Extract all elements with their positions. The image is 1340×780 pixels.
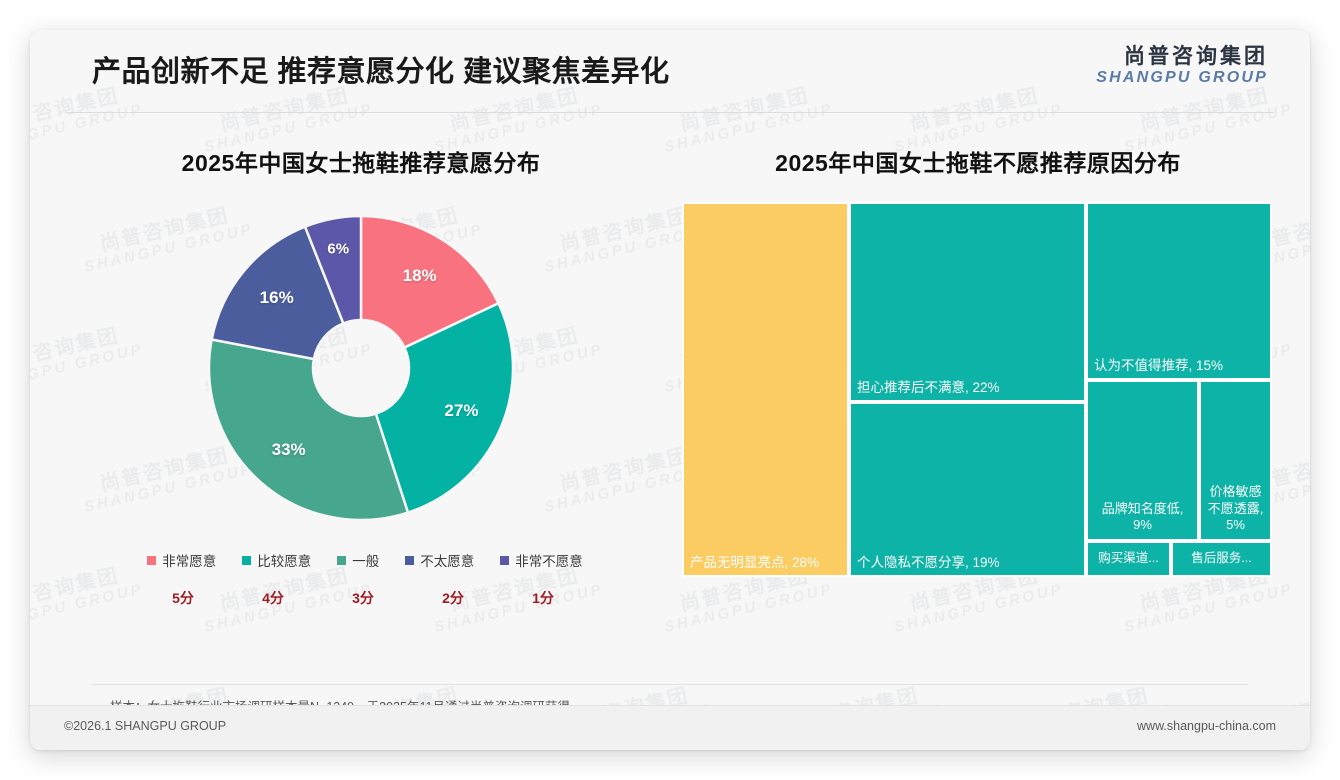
slide-header: 产品创新不足 推荐意愿分化 建议聚焦差异化 尚普咨询集团 SHANGPU GRO…: [30, 30, 1310, 112]
treemap-cell[interactable]: 产品无明显亮点, 28%: [682, 202, 849, 577]
donut-legend: 非常愿意比较愿意一般不太愿意非常不愿意: [56, 550, 666, 570]
slide-footer: ©2026.1 SHANGPU GROUP www.shangpu-china.…: [30, 705, 1310, 750]
treemap-cell-label: 品牌知名度低, 9%: [1088, 501, 1197, 534]
legend-label: 非常不愿意: [515, 550, 583, 570]
treemap-chart-title: 2025年中国女士拖鞋不愿推荐原因分布: [678, 144, 1278, 178]
treemap-cell-label: 担心推荐后不满意, 22%: [851, 380, 1084, 397]
treemap-cell-label: 个人隐私不愿分享, 19%: [851, 555, 1084, 572]
slide-stage: 尚普咨询集团SHANGPU GROUP尚普咨询集团SHANGPU GROUP尚普…: [0, 0, 1340, 780]
legend-swatch-icon: [500, 556, 509, 565]
chart-panel-donut: 2025年中国女士拖鞋推荐意愿分布 18%27%33%16%6% 非常愿意比较愿…: [56, 112, 666, 608]
brand-name-cn: 尚普咨询集团: [1096, 45, 1268, 69]
legend-label: 不太愿意: [420, 550, 474, 570]
brand-name-en: SHANGPU GROUP: [1096, 69, 1268, 87]
donut-svg: [191, 198, 531, 538]
treemap-cell-label: 产品无明显亮点, 28%: [684, 555, 847, 572]
treemap-cell-label: 售后服务...: [1173, 551, 1270, 567]
legend-label: 比较愿意: [257, 550, 311, 570]
legend-swatch-icon: [337, 556, 346, 565]
donut-chart-title: 2025年中国女士拖鞋推荐意愿分布: [56, 144, 666, 178]
footer-website[interactable]: www.shangpu-china.com: [1137, 719, 1276, 733]
treemap-cell[interactable]: 个人隐私不愿分享, 19%: [849, 402, 1086, 577]
score-label: 1分: [526, 588, 560, 608]
legend-swatch-icon: [242, 556, 251, 565]
treemap-chart: 产品无明显亮点, 28%担心推荐后不满意, 22%个人隐私不愿分享, 19%认为…: [682, 202, 1272, 577]
legend-item[interactable]: 不太愿意: [405, 550, 474, 570]
legend-item[interactable]: 非常愿意: [147, 550, 216, 570]
treemap-cell-label: 购买渠道...: [1088, 551, 1169, 567]
legend-item[interactable]: 一般: [337, 550, 379, 570]
charts-container: 2025年中国女士拖鞋推荐意愿分布 18%27%33%16%6% 非常愿意比较愿…: [30, 112, 1310, 608]
treemap-cell[interactable]: 认为不值得推荐, 15%: [1086, 202, 1272, 380]
legend-label: 非常愿意: [162, 550, 216, 570]
score-label: 5分: [166, 588, 200, 608]
treemap-cell[interactable]: 品牌知名度低, 9%: [1086, 380, 1199, 541]
score-row: 5分4分3分2分1分: [56, 588, 666, 608]
legend-item[interactable]: 比较愿意: [242, 550, 311, 570]
score-label: 4分: [256, 588, 290, 608]
legend-swatch-icon: [405, 556, 414, 565]
legend-item[interactable]: 非常不愿意: [500, 550, 583, 570]
legend-swatch-icon: [147, 556, 156, 565]
treemap-cell[interactable]: 担心推荐后不满意, 22%: [849, 202, 1086, 402]
chart-panel-treemap: 2025年中国女士拖鞋不愿推荐原因分布 产品无明显亮点, 28%担心推荐后不满意…: [678, 112, 1278, 608]
treemap-cell-label: 认为不值得推荐, 15%: [1088, 358, 1270, 375]
brand-logo: 尚普咨询集团 SHANGPU GROUP: [1096, 45, 1268, 88]
score-label: 3分: [346, 588, 380, 608]
treemap-cell[interactable]: 购买渠道...: [1086, 541, 1171, 577]
page-title: 产品创新不足 推荐意愿分化 建议聚焦差异化: [92, 48, 670, 90]
footnote-divider: [92, 684, 1248, 685]
donut-slice[interactable]: [209, 340, 408, 520]
slide-card: 尚普咨询集团SHANGPU GROUP尚普咨询集团SHANGPU GROUP尚普…: [30, 30, 1310, 750]
treemap-cell[interactable]: 价格敏感不愿透露, 5%: [1199, 380, 1272, 541]
legend-label: 一般: [352, 550, 379, 570]
footer-copyright: ©2026.1 SHANGPU GROUP: [64, 719, 226, 733]
treemap-cell-label: 价格敏感不愿透露, 5%: [1201, 484, 1270, 533]
score-label: 2分: [436, 588, 470, 608]
donut-chart: 18%27%33%16%6%: [56, 192, 666, 542]
treemap-cell[interactable]: 售后服务...: [1171, 541, 1272, 577]
